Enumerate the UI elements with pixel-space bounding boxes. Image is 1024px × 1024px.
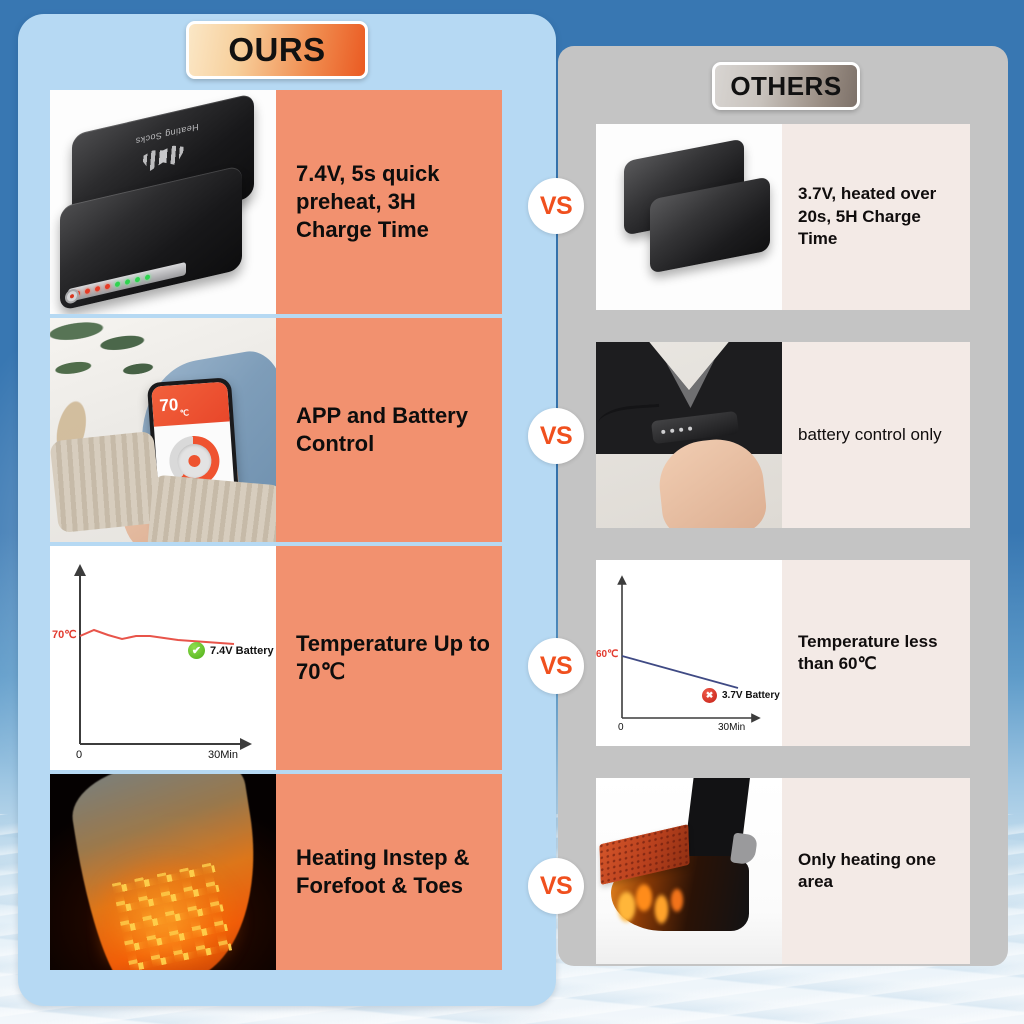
others-control-caption: battery control only [782,342,970,528]
others-row-control: battery control only [596,342,970,528]
others-row-battery: 3.7V, heated over 20s, 5H Charge Time [596,124,970,310]
ours-battery-image: Heating Socks [50,90,276,314]
app-temperature-value: 70 [159,395,179,416]
others-row-temperature: 60℃ 0 30Min ✖ 3.7V Battery Temperature l… [596,560,970,746]
others-temperature-caption: Temperature less than 60℃ [782,560,970,746]
others-coverage-caption: Only heating one area [782,778,970,964]
vs-badge-battery: VS [528,178,584,234]
check-mark-icon: ✔ [188,642,205,659]
sock-heel-patch [730,832,758,865]
vs-badge-control: VS [528,408,584,464]
ours-chart-x-start: 0 [76,749,82,761]
ours-chart-x-end: 30Min [208,749,238,761]
others-chart-legend: ✖ 3.7V Battery [702,688,780,703]
vs-badge-temperature: VS [528,638,584,694]
others-header-badge: OTHERS [712,62,860,110]
ours-app-image: 70 ℃ [50,318,276,542]
ours-row-control: 70 ℃ APP and Battery Con [50,318,502,542]
app-temperature-readout: 70 ℃ [151,382,230,427]
ours-chart-y-tick: 70℃ [52,628,77,641]
ours-sock-image [50,774,276,970]
comparison-infographic: OURS OTHERS Heating Socks [0,0,1024,1024]
ours-row-temperature: 70℃ 0 30Min ✔ 7.4V Battery Temperature U… [50,546,502,770]
others-chart-legend-label: 3.7V Battery [722,690,780,701]
others-chart-y-tick: 60℃ [596,649,618,660]
ours-chart-legend: ✔ 7.4V Battery [188,642,274,659]
battery-brand-text: Heating Socks [135,122,198,147]
ours-control-caption: APP and Battery Control [276,318,502,542]
cross-mark-icon: ✖ [702,688,717,703]
ours-header-badge: OURS [186,21,368,79]
wing-logo-icon [140,143,186,174]
others-temperature-chart: 60℃ 0 30Min ✖ 3.7V Battery [596,560,782,746]
others-chart-x-end: 30Min [718,722,745,733]
knit-sleeve-left [50,431,163,533]
others-battery-caption: 3.7V, heated over 20s, 5H Charge Time [782,124,970,310]
vest-inner-lining [652,342,726,408]
battery-power-button-icon [65,288,79,305]
battery-led-strip [68,262,186,302]
knit-sleeve-right [147,474,276,542]
others-controller-image [596,342,782,528]
vs-badge-coverage: VS [528,858,584,914]
others-sock-image [596,778,782,964]
ours-battery-caption: 7.4V, 5s quick preheat, 3H Charge Time [276,90,502,314]
ours-row-battery: Heating Socks [50,90,502,314]
ours-coverage-caption: Heating Instep & Forefoot & Toes [276,774,502,970]
ours-temperature-caption: Temperature Up to 70℃ [276,546,502,770]
app-temperature-unit: ℃ [180,408,190,418]
ours-chart-legend-label: 7.4V Battery [210,645,274,657]
ours-temperature-chart: 70℃ 0 30Min ✔ 7.4V Battery [50,546,276,770]
others-row-coverage: Only heating one area [596,778,970,964]
others-battery-image [596,124,782,310]
others-chart-x-start: 0 [618,722,624,733]
others-chart-svg [596,560,782,746]
ours-row-coverage: Heating Instep & Forefoot & Toes [50,774,502,970]
